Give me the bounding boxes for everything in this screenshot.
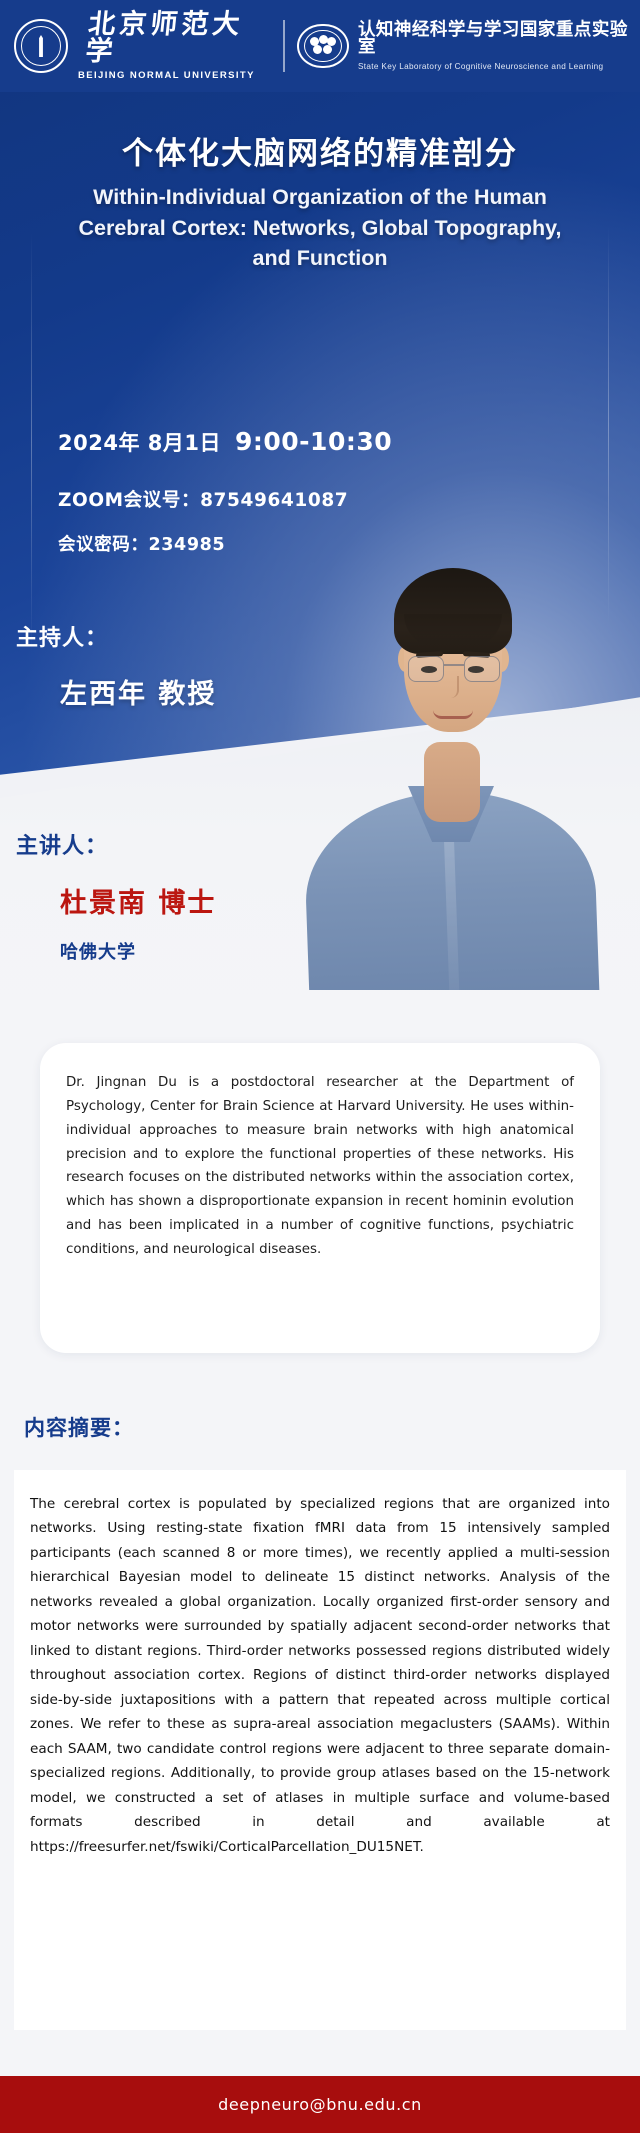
university-name-en: BEIJING NORMAL UNIVERSITY	[78, 70, 269, 81]
host-name: 左西年 教授	[60, 672, 216, 711]
host-label: 主持人：	[16, 620, 108, 652]
abstract-panel: The cerebral cortex is populated by spec…	[14, 1470, 626, 2030]
brain-lobes-icon	[297, 24, 349, 68]
abstract-heading: 内容摘要：	[24, 1412, 134, 1442]
brand-bar: 北京师范大学 BEIJING NORMAL UNIVERSITY 认知神经科学与…	[0, 0, 640, 92]
speaker-portrait-photo	[300, 470, 600, 990]
meeting-date: 2024年 8月1日	[58, 431, 221, 455]
speaker-bio-card: Dr. Jingnan Du is a postdoctoral researc…	[40, 1043, 600, 1353]
lab-name-cn: 认知神经科学与学习国家重点实验室	[358, 22, 640, 57]
lab-name-en: State Key Laboratory of Cognitive Neuros…	[358, 62, 640, 71]
zoom-passcode: 会议密码：234985	[58, 531, 225, 556]
poster-title-en: Within-Individual Organization of the Hu…	[60, 182, 580, 274]
speaker-name: 杜景南 博士	[60, 881, 216, 920]
contact-email[interactable]: deepneuro@bnu.edu.cn	[218, 2095, 422, 2114]
speaker-label: 主讲人：	[16, 828, 108, 860]
hero-accent-line-right	[608, 225, 609, 625]
meeting-time: 9:00-10:30	[235, 427, 392, 456]
university-name-cn: 北京师范大学	[84, 11, 272, 65]
abstract-text: The cerebral cortex is populated by spec…	[30, 1492, 610, 1859]
bnu-seal-icon	[14, 19, 68, 73]
speaker-affiliation: 哈佛大学	[60, 938, 136, 964]
brand-divider	[283, 20, 285, 72]
footer-bar: deepneuro@bnu.edu.cn	[0, 2076, 640, 2133]
poster-title-cn: 个体化大脑网络的精准剖分	[0, 128, 640, 173]
meeting-datetime: 2024年 8月1日9:00-10:30	[58, 427, 392, 457]
hero-accent-line-left	[31, 232, 32, 652]
speaker-bio-text: Dr. Jingnan Du is a postdoctoral researc…	[66, 1071, 574, 1262]
